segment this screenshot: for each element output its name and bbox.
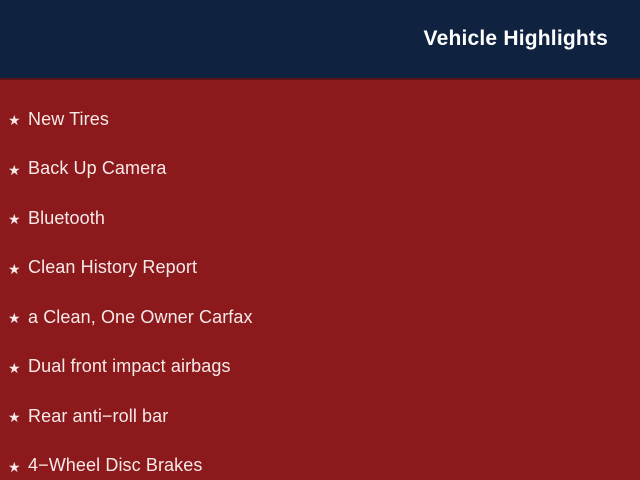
- list-item: ★Clean History Report: [0, 244, 640, 294]
- star-icon: ★: [8, 310, 28, 325]
- list-item-label: Bluetooth: [28, 209, 105, 229]
- list-item-label: Back Up Camera: [28, 159, 166, 179]
- vehicle-highlights-slide: Vehicle Highlights ★New Tires★Back Up Ca…: [0, 0, 640, 480]
- star-icon: ★: [8, 459, 28, 474]
- list-item: ★Bluetooth: [0, 194, 640, 244]
- star-icon: ★: [8, 261, 28, 276]
- list-item-label: Dual front impact airbags: [28, 357, 231, 377]
- star-icon: ★: [8, 211, 28, 226]
- list-item: ★Back Up Camera: [0, 145, 640, 195]
- list-item-label: Clean History Report: [28, 258, 197, 278]
- highlights-list: ★New Tires★Back Up Camera★Bluetooth★Clea…: [0, 95, 640, 480]
- page-title: Vehicle Highlights: [424, 28, 608, 51]
- star-icon: ★: [8, 360, 28, 375]
- list-item-label: a Clean, One Owner Carfax: [28, 308, 253, 328]
- star-icon: ★: [8, 409, 28, 424]
- list-item: ★New Tires: [0, 95, 640, 145]
- slide-header: Vehicle Highlights: [0, 0, 640, 78]
- list-item: ★Dual front impact airbags: [0, 343, 640, 393]
- highlights-panel: ★New Tires★Back Up Camera★Bluetooth★Clea…: [0, 80, 640, 480]
- list-item-label: New Tires: [28, 110, 109, 130]
- star-icon: ★: [8, 162, 28, 177]
- list-item-label: Rear anti−roll bar: [28, 407, 168, 427]
- list-item: ★Rear anti−roll bar: [0, 392, 640, 442]
- list-item: ★a Clean, One Owner Carfax: [0, 293, 640, 343]
- star-icon: ★: [8, 112, 28, 127]
- list-item: ★4−Wheel Disc Brakes: [0, 442, 640, 480]
- list-item-label: 4−Wheel Disc Brakes: [28, 456, 202, 476]
